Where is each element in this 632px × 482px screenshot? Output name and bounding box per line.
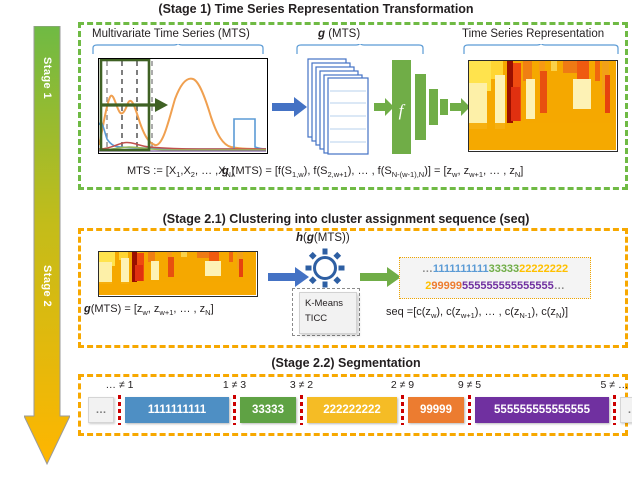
cut-label-3: 2 ≠ 9 bbox=[391, 379, 414, 391]
segment-divider bbox=[118, 395, 121, 425]
stage1-title: (Stage 1) Time Series Representation Tra… bbox=[0, 2, 632, 16]
stage-2-label: Stage 2 bbox=[41, 263, 53, 309]
brace-gmts bbox=[296, 44, 424, 54]
arrow-blue-transform bbox=[272, 96, 308, 118]
formula-gmts-stage2: g(MTS) = [zw, zw+1, … , zN] bbox=[84, 303, 214, 317]
formula-mts: MTS := [X1,X2, … ,XN] bbox=[127, 165, 234, 179]
cut-label-5: 5 ≠ … bbox=[601, 379, 629, 391]
segment-divider bbox=[613, 395, 616, 425]
tsr-column-label: Time Series Representation bbox=[462, 28, 604, 40]
g-bold: g bbox=[307, 232, 314, 244]
sequence-chunk-1: 99999 bbox=[431, 280, 462, 292]
segment-block-segment-2[interactable]: 222222222 bbox=[307, 397, 397, 423]
gmts-bold-g: g bbox=[318, 28, 325, 40]
sequence-line-1: …11111111113333322222222 bbox=[400, 261, 590, 278]
segment-block-segment-1[interactable]: 1111111111 bbox=[125, 397, 229, 423]
mts-column-label: Multivariate Time Series (MTS) bbox=[92, 28, 250, 40]
cut-label-0: … ≠ 1 bbox=[106, 379, 134, 391]
clustering-function-label: h(g(MTS)) bbox=[296, 232, 350, 244]
arrow-blue-cluster bbox=[268, 266, 310, 288]
segmentation-row: …111111111133333222222222999995555555555… bbox=[88, 396, 632, 424]
diagram-canvas: (Stage 1) Time Series Representation Tra… bbox=[0, 0, 632, 482]
sequence-chunk-3: … bbox=[554, 280, 565, 292]
arrow-green-represent bbox=[450, 98, 470, 116]
brace-mts bbox=[92, 44, 264, 54]
segment-block-segment-9[interactable]: 99999 bbox=[408, 397, 464, 423]
mts-line-chart bbox=[98, 58, 268, 154]
stage21-title: (Stage 2.1) Clustering into cluster assi… bbox=[60, 212, 632, 226]
cut-label-2: 3 ≠ 2 bbox=[290, 379, 313, 391]
cluster-assignment-sequence: …11111111113333322222222 299999555555555… bbox=[399, 257, 591, 299]
hg-bold: h bbox=[296, 232, 303, 244]
segment-block-segment-3[interactable]: 33333 bbox=[240, 397, 296, 423]
cut-label-4: 9 ≠ 5 bbox=[458, 379, 481, 391]
sequence-chunk-1: 1111111111 bbox=[433, 263, 489, 275]
cut-label-1: 1 ≠ 3 bbox=[223, 379, 246, 391]
algorithm-ticc: TICC bbox=[305, 312, 356, 327]
formula-gmts: g (MTS) = [f(S1,w), f(S2,w+1), … , f(SN-… bbox=[222, 165, 523, 179]
gmts-column-label: g (MTS) bbox=[318, 28, 360, 40]
formula-seq: seq =[c(zw), c(zw+1), … , c(zN-1), c(zN)… bbox=[386, 306, 568, 320]
stage22-title: (Stage 2.2) Segmentation bbox=[60, 356, 632, 370]
sequence-line-2: 299999555555555555555… bbox=[400, 278, 590, 295]
algorithm-list: K-Means TICC bbox=[299, 292, 357, 334]
segment-block-ellipsis-left[interactable]: … bbox=[88, 397, 114, 423]
cluster-input-heatmap bbox=[98, 251, 258, 297]
segment-block-segment-5[interactable]: 555555555555555 bbox=[475, 397, 609, 423]
brace-tsr bbox=[463, 44, 619, 54]
algorithm-kmeans: K-Means bbox=[305, 297, 356, 312]
windowed-segments-stack bbox=[307, 58, 373, 156]
segment-divider bbox=[233, 395, 236, 425]
stage-1-label: Stage 1 bbox=[41, 55, 53, 101]
segment-divider bbox=[300, 395, 303, 425]
segment-divider bbox=[468, 395, 471, 425]
sequence-chunk-2: 555555555555555 bbox=[462, 280, 554, 292]
segment-divider bbox=[401, 395, 404, 425]
representation-heatmap bbox=[468, 60, 618, 152]
sequence-chunk-3: 22222222 bbox=[519, 263, 568, 275]
gmts-rest: (MTS) bbox=[325, 28, 360, 40]
sequence-chunk-0: … bbox=[422, 263, 433, 275]
gear-icon bbox=[305, 248, 345, 288]
arrow-green-sequence bbox=[360, 266, 402, 288]
encoder-network: f bbox=[390, 58, 452, 156]
segment-block-ellipsis-right[interactable]: … bbox=[620, 397, 632, 423]
sequence-chunk-2: 33333 bbox=[489, 263, 520, 275]
